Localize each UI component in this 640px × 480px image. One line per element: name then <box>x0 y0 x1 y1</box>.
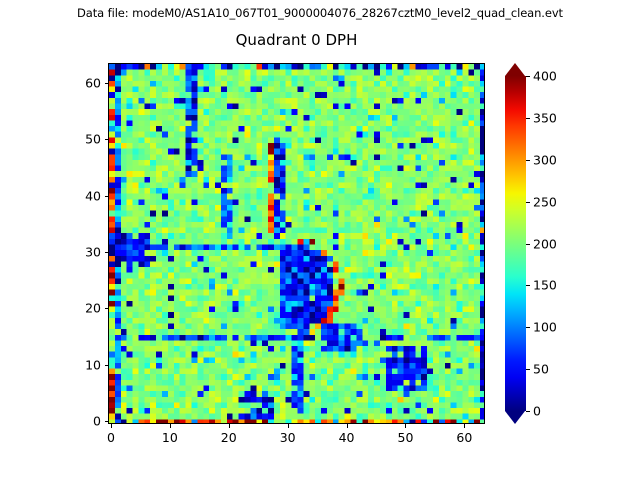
y-tick-label: 50 <box>68 132 101 147</box>
y-tick-mark <box>105 421 109 422</box>
colorbar-tick-label: 300 <box>533 152 557 167</box>
x-tick-mark <box>464 424 465 428</box>
colorbar-tick-label: 400 <box>533 69 557 84</box>
y-tick-label: 40 <box>68 188 101 203</box>
x-tick-label: 10 <box>162 430 178 445</box>
colorbar-tick-mark <box>526 160 530 161</box>
y-tick-label: 60 <box>68 75 101 90</box>
colorbar-tick-mark <box>526 327 530 328</box>
x-tick-mark <box>229 424 230 428</box>
colorbar-tick-mark <box>526 411 530 412</box>
colorbar-tick-label: 250 <box>533 194 557 209</box>
heatmap-axes[interactable] <box>108 63 485 424</box>
colorbar[interactable]: 050100150200250300350400 <box>505 63 526 424</box>
y-tick-mark <box>105 196 109 197</box>
y-tick-label: 20 <box>68 301 101 316</box>
colorbar-tick-label: 200 <box>533 236 557 251</box>
plot-title: Quadrant 0 DPH <box>108 31 485 49</box>
x-tick-mark <box>111 424 112 428</box>
colorbar-tick-mark <box>526 369 530 370</box>
y-tick-label: 0 <box>68 414 101 429</box>
colorbar-tick-mark <box>526 76 530 77</box>
x-tick-label: 50 <box>398 430 414 445</box>
colorbar-tick-label: 350 <box>533 110 557 125</box>
colorbar-tick-mark <box>526 118 530 119</box>
x-tick-mark <box>347 424 348 428</box>
colorbar-tick-label: 150 <box>533 278 557 293</box>
x-tick-label: 40 <box>339 430 355 445</box>
x-tick-label: 20 <box>221 430 237 445</box>
matplotlib-figure: Data file: modeM0/AS1A10_067T01_90000040… <box>0 0 640 480</box>
colorbar-extend-max-arrow <box>505 63 525 76</box>
colorbar-tick-label: 0 <box>533 404 541 419</box>
y-tick-mark <box>105 365 109 366</box>
x-tick-label: 30 <box>280 430 296 445</box>
colorbar-gradient <box>505 76 526 411</box>
colorbar-tick-label: 50 <box>533 362 549 377</box>
heatmap-image[interactable] <box>109 64 485 424</box>
y-tick-mark <box>105 139 109 140</box>
colorbar-tick-label: 100 <box>533 320 557 335</box>
y-tick-mark <box>105 83 109 84</box>
colorbar-tick-mark <box>526 244 530 245</box>
colorbar-tick-mark <box>526 202 530 203</box>
y-tick-label: 30 <box>68 244 101 259</box>
x-tick-mark <box>170 424 171 428</box>
y-tick-mark <box>105 252 109 253</box>
x-tick-label: 0 <box>107 430 115 445</box>
colorbar-extend-min-arrow <box>505 411 525 424</box>
y-tick-label: 10 <box>68 357 101 372</box>
colorbar-body[interactable] <box>505 76 526 411</box>
colorbar-tick-mark <box>526 285 530 286</box>
x-tick-mark <box>405 424 406 428</box>
y-tick-mark <box>105 308 109 309</box>
x-tick-label: 60 <box>456 430 472 445</box>
data-file-suptitle: Data file: modeM0/AS1A10_067T01_90000040… <box>0 6 640 20</box>
x-tick-mark <box>288 424 289 428</box>
